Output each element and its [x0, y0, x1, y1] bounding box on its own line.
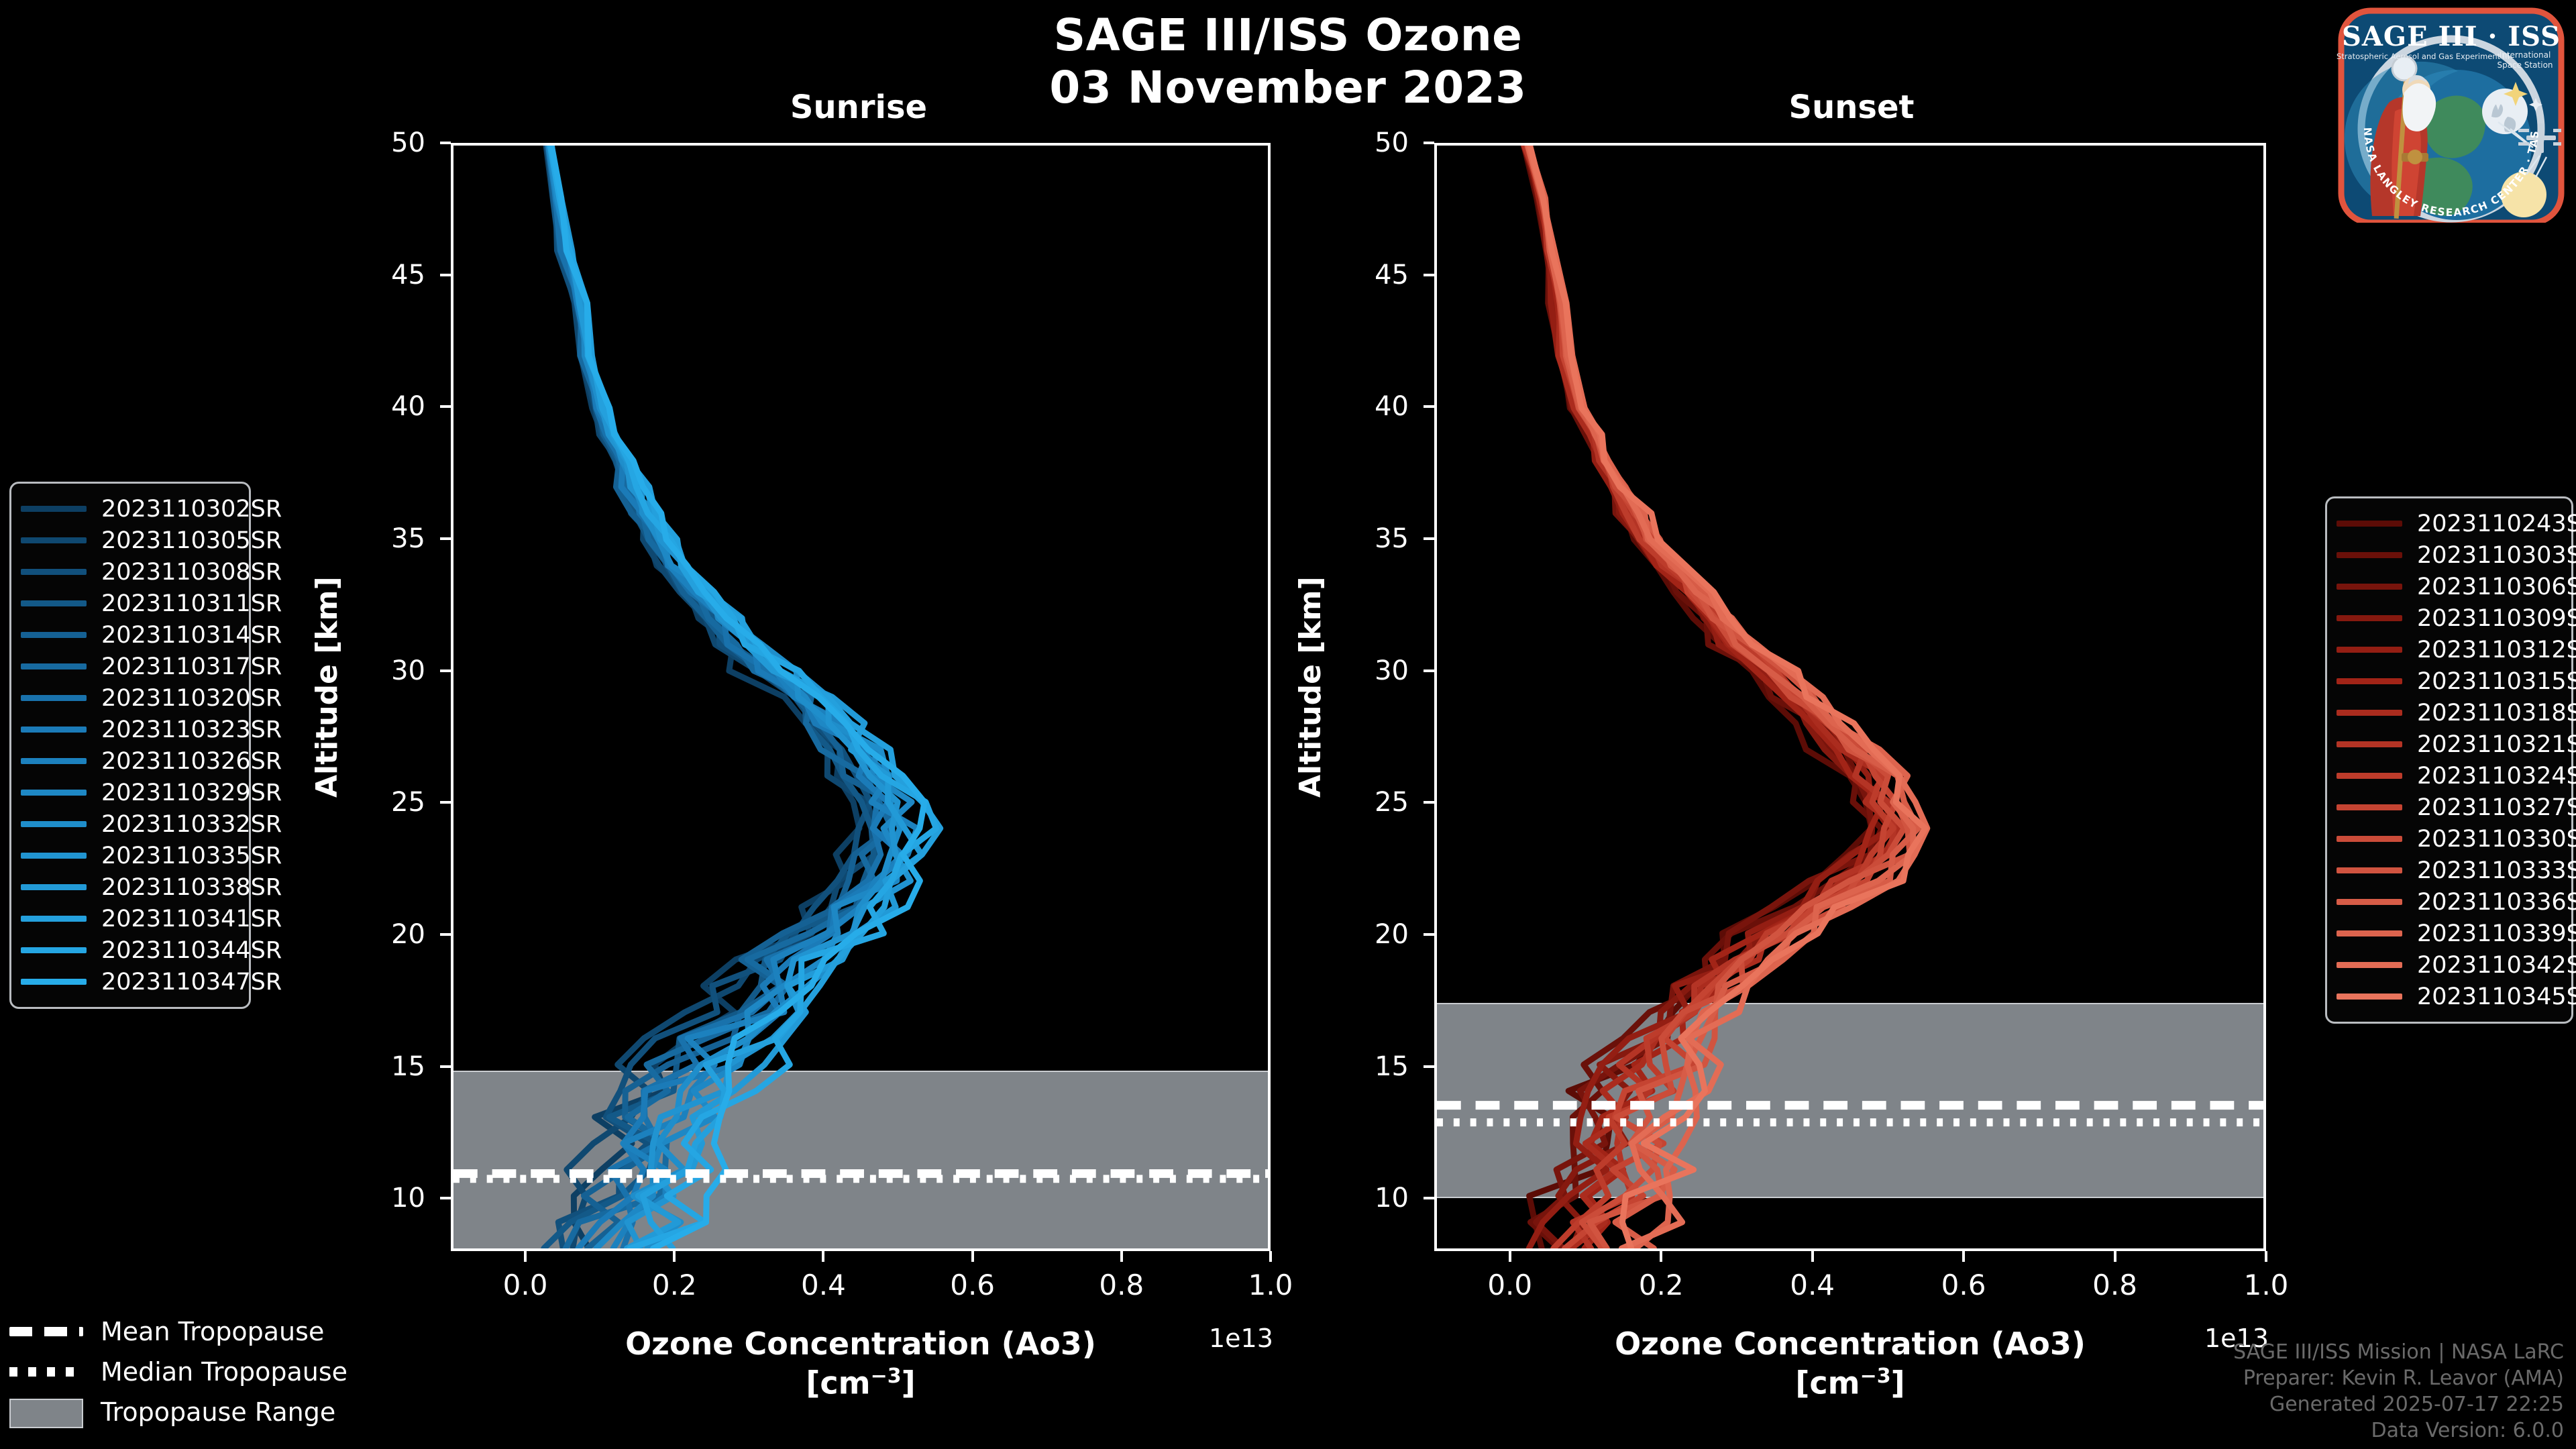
title-line-2: 03 November 2023 [0, 62, 2576, 114]
y-tick-label-50: 50 [1322, 127, 1409, 158]
dotted-line-icon [9, 1364, 83, 1379]
legend-sunrise-label: 2023110311SR [101, 590, 282, 617]
legend-sunrise-item[interactable]: 2023110335SR [21, 840, 237, 871]
y-tick-label-10: 10 [1322, 1183, 1409, 1214]
legend-item-median-tropopause: Median Tropopause [9, 1352, 358, 1392]
x-tick-label-1.0: 1.0 [2212, 1269, 2320, 1301]
y-tick-label-30: 30 [338, 655, 425, 686]
x-axis-label: Ozone Concentration (Ao3)[cm−3] [1434, 1325, 2266, 1402]
legend-color-swatch [2337, 521, 2402, 527]
legend-color-swatch [2337, 773, 2402, 779]
logo-subtitle-left: Stratospheric Aerosol and Gas Experiment… [2337, 52, 2510, 61]
legend-color-swatch [21, 916, 87, 922]
y-tick-label-15: 15 [1322, 1051, 1409, 1082]
legend-color-swatch [2337, 867, 2402, 873]
legend-sunset-label: 2023110336SS [2417, 889, 2576, 916]
legend-sunset-label: 2023110333SS [2417, 857, 2576, 884]
logo-title: SAGE III · ISS [2342, 21, 2561, 52]
legend-sunset-item[interactable]: 2023110315SS [2337, 665, 2559, 697]
legend-sunset[interactable]: 2023110243SS2023110303SS2023110306SS2023… [2325, 496, 2573, 1024]
legend-sunset-label: 2023110318SS [2417, 700, 2576, 727]
x-tick-mark [1509, 1251, 1511, 1262]
legend-color-swatch [21, 884, 87, 890]
legend-color-swatch [2337, 994, 2402, 1000]
legend-sunrise-item[interactable]: 2023110338SR [21, 871, 237, 903]
legend-sunrise-label: 2023110317SR [101, 653, 282, 680]
legend-color-swatch [21, 537, 87, 543]
legend-sunset-label: 2023110306SS [2417, 574, 2576, 600]
legend-sunrise-label: 2023110335SR [101, 843, 282, 869]
legend-sunset-label: 2023110243SS [2417, 511, 2576, 537]
legend-sunrise-item[interactable]: 2023110329SR [21, 777, 237, 808]
legend-sunset-item[interactable]: 2023110333SS [2337, 855, 2559, 886]
legend-color-swatch [2337, 899, 2402, 905]
x-tick-label-0.2: 0.2 [621, 1269, 728, 1301]
legend-color-swatch [21, 853, 87, 859]
legend-label-tropopause-range: Tropopause Range [101, 1397, 335, 1427]
x-tick-label-0.4: 0.4 [769, 1269, 877, 1301]
legend-sunrise-label: 2023110302SR [101, 496, 282, 523]
legend-sunrise-label: 2023110347SR [101, 969, 282, 996]
x-axis-exponent-label: 1e13 [1209, 1324, 1273, 1353]
x-tick-label-0.4: 0.4 [1759, 1269, 1866, 1301]
y-axis-label: Altitude [km] [1293, 576, 1328, 798]
y-tick-mark [440, 405, 451, 408]
legend-item-tropopause-range: Tropopause Range [9, 1392, 358, 1432]
legend-color-swatch [21, 821, 87, 827]
y-tick-mark [1424, 1197, 1434, 1199]
legend-sunset-item[interactable]: 2023110321SS [2337, 729, 2559, 760]
legend-sunrise-label: 2023110326SR [101, 748, 282, 775]
legend-sunrise-label: 2023110341SR [101, 906, 282, 932]
footer-line-generated: Generated 2025-07-17 22:25 [2233, 1391, 2564, 1417]
legend-sunset-label: 2023110342SS [2417, 952, 2576, 979]
legend-sunset-label: 2023110324SS [2417, 763, 2576, 790]
legend-color-swatch [2337, 615, 2402, 621]
ozone-profiles-sunrise [453, 146, 1268, 1248]
legend-color-swatch [2337, 930, 2402, 936]
legend-sunset-label: 2023110315SS [2417, 668, 2576, 695]
x-axis-label: Ozone Concentration (Ao3)[cm−3] [451, 1325, 1271, 1402]
legend-sunrise-item[interactable]: 2023110344SR [21, 934, 237, 966]
legend-sunset-item[interactable]: 2023110330SS [2337, 823, 2559, 855]
legend-sunset-item[interactable]: 2023110345SS [2337, 981, 2559, 1012]
legend-item-mean-tropopause: Mean Tropopause [9, 1311, 358, 1352]
legend-sunset-label: 2023110345SS [2417, 983, 2576, 1010]
x-tick-label-0.8: 0.8 [1068, 1269, 1175, 1301]
x-axis-label-line2: [cm−3] [1434, 1364, 2266, 1403]
x-tick-mark [673, 1251, 676, 1262]
profile-line [551, 146, 924, 1248]
y-tick-label-35: 35 [1322, 523, 1409, 554]
y-tick-label-45: 45 [1322, 260, 1409, 290]
legend-sunrise[interactable]: 2023110302SR2023110305SR2023110308SR2023… [9, 482, 251, 1009]
logo-subtitle-right-1: International [2500, 50, 2551, 60]
y-tick-mark [440, 669, 451, 672]
legend-sunrise-label: 2023110320SR [101, 685, 282, 712]
y-tick-label-40: 40 [338, 391, 425, 422]
profile-line [548, 146, 917, 1248]
x-axis-label-line2: [cm−3] [451, 1364, 1271, 1403]
legend-sunrise-label: 2023110323SR [101, 716, 282, 743]
x-axis-label-line1: Ozone Concentration (Ao3) [1434, 1325, 2266, 1364]
x-tick-mark [822, 1251, 824, 1262]
panel-title-sunrise: Sunrise [684, 89, 1033, 126]
legend-sunset-label: 2023110330SS [2417, 826, 2576, 853]
footer-line-preparer: Preparer: Kevin R. Leavor (AMA) [2233, 1365, 2564, 1391]
y-tick-label-15: 15 [338, 1051, 425, 1082]
legend-color-swatch [21, 790, 87, 796]
legend-sunrise-label: 2023110329SR [101, 780, 282, 806]
legend-color-swatch [2337, 584, 2402, 590]
y-tick-mark [440, 142, 451, 144]
y-tick-label-35: 35 [338, 523, 425, 554]
y-tick-mark [440, 801, 451, 804]
legend-sunset-item[interactable]: 2023110342SS [2337, 949, 2559, 981]
legend-color-swatch [2337, 741, 2402, 747]
legend-sunset-label: 2023110309SS [2417, 605, 2576, 632]
legend-sunset-label: 2023110303SS [2417, 542, 2576, 569]
x-axis-label-line1: Ozone Concentration (Ao3) [451, 1325, 1271, 1364]
x-tick-mark [2265, 1251, 2267, 1262]
legend-sunrise-item[interactable]: 2023110317SR [21, 651, 237, 682]
legend-sunset-label: 2023110321SS [2417, 731, 2576, 758]
y-tick-label-50: 50 [338, 127, 425, 158]
x-tick-mark [524, 1251, 527, 1262]
legend-color-swatch [2337, 647, 2402, 653]
panel-title-sunset: Sunset [1677, 89, 2026, 126]
sage-iii-iss-mission-patch-logo: SAGE III · ISS Stratospheric Aerosol and… [2277, 4, 2567, 223]
y-tick-mark [440, 933, 451, 936]
legend-sunrise-item[interactable]: 2023110341SR [21, 903, 237, 934]
legend-sunrise-label: 2023110308SR [101, 559, 282, 586]
x-tick-mark [2114, 1251, 2116, 1262]
legend-sunset-item[interactable]: 2023110303SS [2337, 539, 2559, 571]
legend-color-swatch [21, 695, 87, 701]
legend-sunrise-item[interactable]: 2023110305SR [21, 525, 237, 556]
legend-sunrise-label: 2023110305SR [101, 527, 282, 554]
ozone-profiles-sunset [1437, 146, 2263, 1248]
x-tick-mark [1811, 1251, 1814, 1262]
x-tick-label-0.8: 0.8 [2061, 1269, 2169, 1301]
y-tick-mark [1424, 933, 1434, 936]
plot-area-sunrise [451, 143, 1271, 1251]
legend-sunrise-label: 2023110338SR [101, 874, 282, 901]
legend-sunset-item[interactable]: 2023110327SS [2337, 792, 2559, 823]
x-tick-label-1.0: 1.0 [1217, 1269, 1324, 1301]
y-tick-label-30: 30 [1322, 655, 1409, 686]
legend-sunrise-item[interactable]: 2023110326SR [21, 745, 237, 777]
legend-sunrise-item[interactable]: 2023110311SR [21, 588, 237, 619]
legend-sunrise-item[interactable]: 2023110320SR [21, 682, 237, 714]
y-tick-mark [1424, 274, 1434, 276]
legend-color-swatch [21, 569, 87, 575]
legend-color-swatch [2337, 804, 2402, 810]
legend-sunrise-label: 2023110332SR [101, 811, 282, 838]
legend-label-mean-tropopause: Mean Tropopause [101, 1317, 324, 1346]
x-tick-label-0.6: 0.6 [919, 1269, 1026, 1301]
legend-color-swatch [21, 947, 87, 953]
y-tick-label-20: 20 [338, 919, 425, 950]
y-tick-mark [1424, 537, 1434, 540]
legend-sunrise-item[interactable]: 2023110308SR [21, 556, 237, 588]
legend-sunset-item[interactable]: 2023110324SS [2337, 760, 2559, 792]
y-tick-label-40: 40 [1322, 391, 1409, 422]
legend-color-swatch [2337, 836, 2402, 842]
y-tick-label-20: 20 [1322, 919, 1409, 950]
legend-color-swatch [2337, 552, 2402, 558]
logo-subtitle-right-2: Space Station [2497, 60, 2553, 70]
x-tick-mark [1269, 1251, 1272, 1262]
legend-sunrise-item[interactable]: 2023110302SR [21, 493, 237, 525]
legend-sunrise-label: 2023110314SR [101, 622, 282, 649]
profile-line [550, 146, 922, 1248]
legend-color-swatch [21, 663, 87, 669]
y-tick-label-25: 25 [1322, 787, 1409, 818]
legend-sunset-item[interactable]: 2023110312SS [2337, 634, 2559, 665]
profile-line [1523, 146, 1894, 1248]
legend-sunset-item[interactable]: 2023110339SS [2337, 918, 2559, 949]
page-title: SAGE III/ISS Ozone 03 November 2023 [0, 9, 2576, 114]
y-tick-label-45: 45 [338, 260, 425, 290]
legend-sunrise-item[interactable]: 2023110323SR [21, 714, 237, 745]
legend-sunset-label: 2023110327SS [2417, 794, 2576, 821]
legend-color-swatch [21, 979, 87, 985]
footer-line-mission: SAGE III/ISS Mission | NASA LaRC [2233, 1339, 2564, 1365]
profile-line [1525, 146, 1889, 1248]
footer-line-version: Data Version: 6.0.0 [2233, 1417, 2564, 1444]
footer-attribution: SAGE III/ISS Mission | NASA LaRC Prepare… [2233, 1339, 2564, 1444]
y-tick-mark [440, 537, 451, 540]
legend-color-swatch [2337, 962, 2402, 968]
legend-color-swatch [21, 727, 87, 733]
legend-color-swatch [2337, 710, 2402, 716]
plot-area-sunset [1434, 143, 2266, 1251]
filled-band-icon [9, 1405, 83, 1419]
x-tick-mark [1120, 1251, 1123, 1262]
dashed-line-icon [9, 1324, 83, 1339]
legend-color-swatch [21, 506, 87, 512]
x-tick-mark [1962, 1251, 1965, 1262]
y-tick-label-25: 25 [338, 787, 425, 818]
y-tick-mark [440, 1197, 451, 1199]
legend-sunset-item[interactable]: 2023110306SS [2337, 571, 2559, 602]
y-tick-mark [1424, 1065, 1434, 1068]
y-tick-mark [1424, 669, 1434, 672]
x-tick-label-0.2: 0.2 [1607, 1269, 1715, 1301]
x-tick-label-0.0: 0.0 [472, 1269, 579, 1301]
legend-sunrise-item[interactable]: 2023110332SR [21, 808, 237, 840]
y-axis-label: Altitude [km] [310, 576, 344, 798]
x-tick-mark [971, 1251, 974, 1262]
legend-sunset-item[interactable]: 2023110318SS [2337, 697, 2559, 729]
legend-sunset-item[interactable]: 2023110243SS [2337, 508, 2559, 539]
legend-label-median-tropopause: Median Tropopause [101, 1357, 347, 1387]
legend-color-swatch [21, 632, 87, 638]
x-tick-label-0.6: 0.6 [1910, 1269, 2017, 1301]
legend-sunset-label: 2023110312SS [2417, 637, 2576, 663]
x-tick-mark [1660, 1251, 1662, 1262]
legend-tropopause: Mean Tropopause Median Tropopause Tropop… [9, 1311, 358, 1432]
legend-sunset-item[interactable]: 2023110336SS [2337, 886, 2559, 918]
y-tick-mark [1424, 801, 1434, 804]
title-line-1: SAGE III/ISS Ozone [0, 9, 2576, 62]
legend-sunrise-item[interactable]: 2023110347SR [21, 966, 237, 998]
legend-sunset-item[interactable]: 2023110309SS [2337, 602, 2559, 634]
y-tick-mark [440, 1065, 451, 1068]
x-tick-label-0.0: 0.0 [1456, 1269, 1564, 1301]
legend-color-swatch [2337, 678, 2402, 684]
y-tick-mark [1424, 142, 1434, 144]
legend-sunrise-label: 2023110344SR [101, 937, 282, 964]
legend-color-swatch [21, 758, 87, 764]
legend-color-swatch [21, 600, 87, 606]
y-tick-mark [1424, 405, 1434, 408]
legend-sunrise-item[interactable]: 2023110314SR [21, 619, 237, 651]
legend-sunset-label: 2023110339SS [2417, 920, 2576, 947]
y-tick-label-10: 10 [338, 1183, 425, 1214]
y-tick-mark [440, 274, 451, 276]
